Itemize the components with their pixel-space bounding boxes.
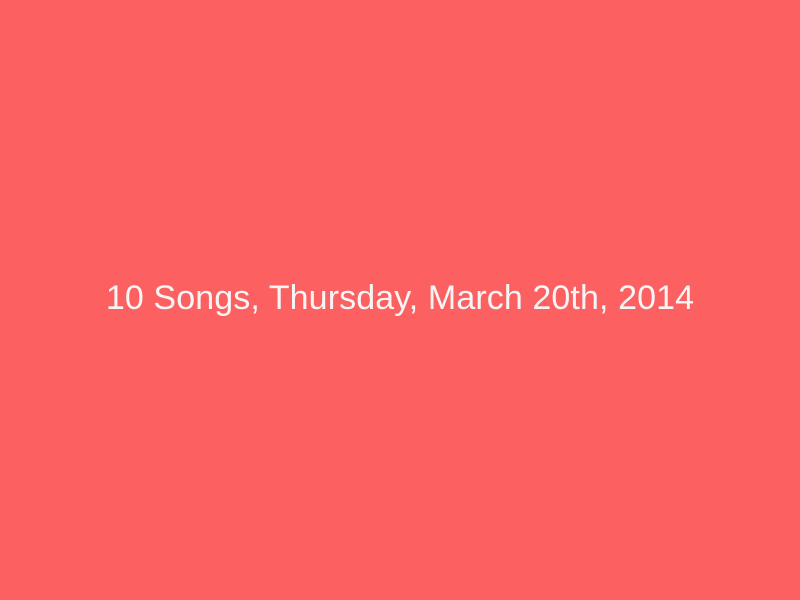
slide-canvas: 10 Songs, Thursday, March 20th, 2014 <box>0 0 800 600</box>
slide-caption: 10 Songs, Thursday, March 20th, 2014 <box>106 278 694 319</box>
